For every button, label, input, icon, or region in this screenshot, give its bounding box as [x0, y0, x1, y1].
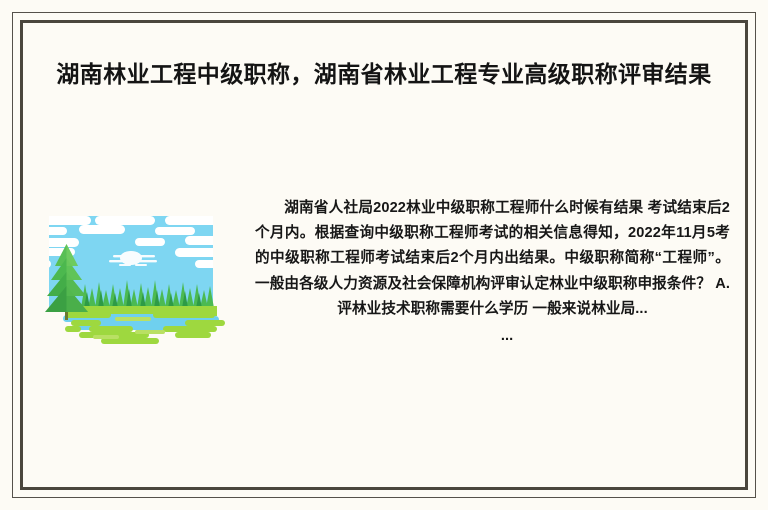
page-content: 湖南林业工程中级职称，湖南省林业工程专业高级职称评审结果: [28, 28, 740, 482]
page-title: 湖南林业工程中级职称，湖南省林业工程专业高级职称评审结果: [28, 28, 740, 92]
forest-lake-illustration: [35, 214, 227, 346]
article-text: 湖南省人社局2022林业中级职称工程师什么时候有结果 考试结束后2个月内。根据查…: [255, 196, 730, 349]
page-canvas: 湖南林业工程中级职称，湖南省林业工程专业高级职称评审结果: [0, 0, 768, 510]
article-paragraph: 湖南省人社局2022林业中级职称工程师什么时候有结果 考试结束后2个月内。根据查…: [255, 196, 730, 322]
article-body-area: 湖南省人社局2022林业中级职称工程师什么时候有结果 考试结束后2个月内。根据查…: [28, 196, 740, 396]
article-more-indicator: ...: [255, 322, 730, 349]
